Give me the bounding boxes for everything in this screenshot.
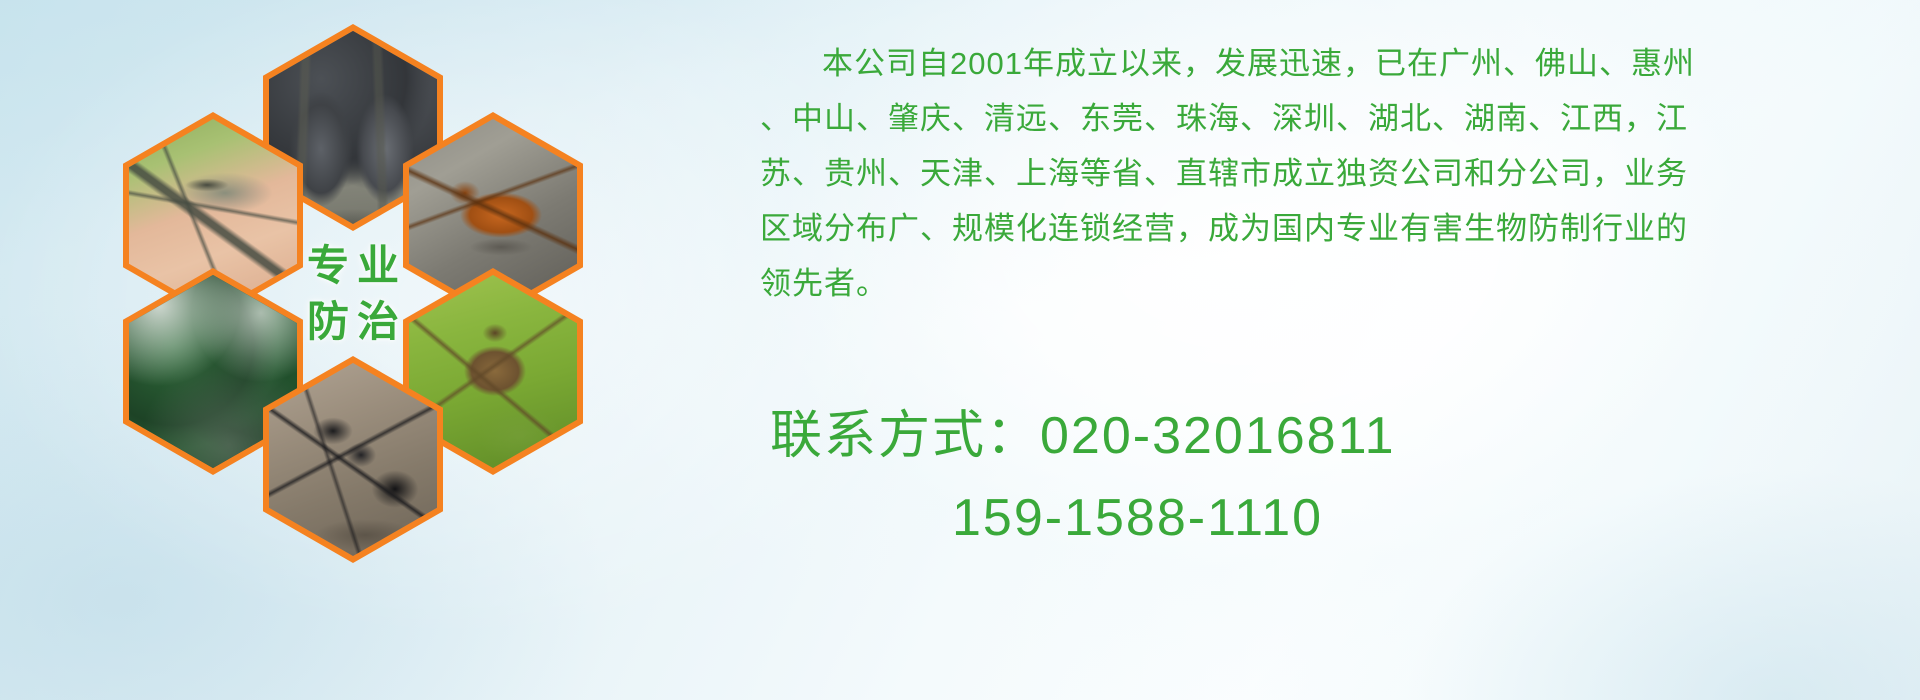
slogan-line-1: 专业	[299, 245, 407, 287]
contact-block: 联系方式：020-32016811 159-1588-1110	[770, 395, 1396, 559]
honeycomb-center-label: 专业 防治	[263, 190, 443, 397]
honeycomb-cluster: 专业 防治	[95, 10, 595, 570]
slogan-line-2: 防治	[299, 301, 407, 343]
banner-root: 专业 防治 本公司自2001年成立以来，发展迅速，已在广州、佛山、惠州 、中山、…	[0, 0, 1920, 700]
company-description: 本公司自2001年成立以来，发展迅速，已在广州、佛山、惠州 、中山、肇庆、清远、…	[760, 36, 1880, 311]
description-line-3: 苏、贵州、天津、上海等省、直辖市成立独资公司和分公司，业务	[760, 146, 1880, 201]
description-line-1: 本公司自2001年成立以来，发展迅速，已在广州、佛山、惠州	[760, 36, 1880, 91]
contact-primary-phone[interactable]: 联系方式：020-32016811	[770, 395, 1396, 477]
contact-secondary-phone[interactable]: 159-1588-1110	[770, 477, 1396, 559]
description-line-5: 领先者。	[760, 256, 1880, 311]
description-line-2: 、中山、肇庆、清远、东莞、珠海、深圳、湖北、湖南、江西，江	[760, 91, 1880, 146]
description-line-4: 区域分布广、规模化连锁经营，成为国内专业有害生物防制行业的	[760, 201, 1880, 256]
